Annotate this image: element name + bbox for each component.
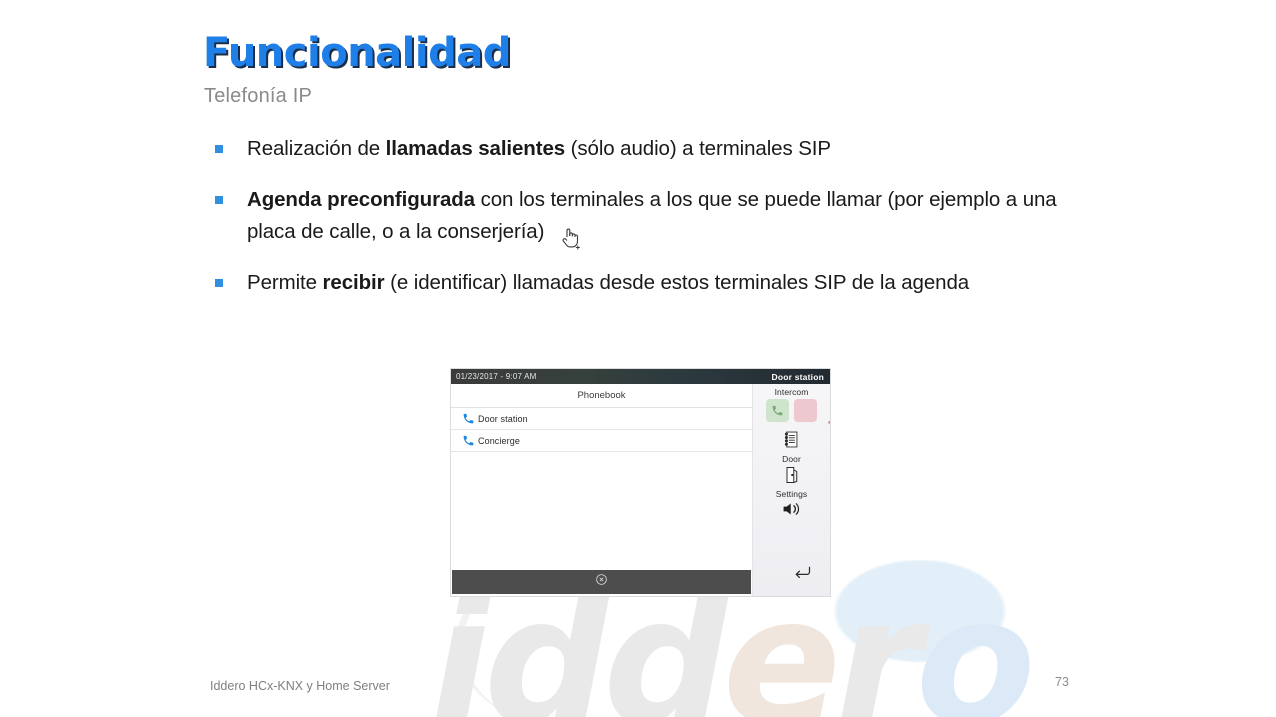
- page-number: 73: [1055, 675, 1069, 689]
- device-clock: 01/23/2017 - 9:07 AM: [456, 372, 537, 381]
- door-label: Door: [782, 454, 801, 464]
- phonebook-header: Phonebook: [451, 384, 752, 408]
- device-main-panel: Phonebook Door station Concierge: [451, 384, 752, 596]
- bullet-text-pre: Permite: [247, 271, 323, 294]
- device-bottom-bar: [452, 570, 751, 594]
- close-circle-icon[interactable]: [595, 573, 608, 591]
- slide-canvas: iddero Funcionalidad Telefonía IP Realiz…: [0, 0, 1276, 717]
- bullet-text-post: (e identificar) llamadas desde estos ter…: [385, 271, 970, 294]
- phone-icon: [458, 412, 478, 425]
- notebook-icon[interactable]: [783, 430, 800, 449]
- bullet-text-pre: Realización de: [247, 137, 386, 160]
- door-icon[interactable]: [784, 466, 799, 484]
- bullet-list: Realización de llamadas salientes (sólo …: [210, 133, 1070, 318]
- page-subtitle: Telefonía IP: [204, 85, 312, 108]
- list-item: Permite recibir (e identificar) llamadas…: [210, 267, 1070, 299]
- list-item[interactable]: Concierge: [451, 430, 752, 452]
- bullet-text-bold: llamadas salientes: [386, 137, 565, 160]
- footer-text: Iddero HCx-KNX y Home Server: [210, 679, 390, 693]
- phonebook-entry-label: Door station: [478, 414, 528, 424]
- page-title: Funcionalidad: [203, 33, 511, 73]
- list-item[interactable]: Door station: [451, 408, 752, 430]
- phone-reject-icon[interactable]: [794, 399, 817, 422]
- return-arrow-icon[interactable]: [793, 565, 812, 584]
- device-sidebar: Intercom Door: [752, 384, 830, 596]
- device-status-bar: 01/23/2017 - 9:07 AM Door station: [451, 369, 830, 384]
- bullet-text-bold: recibir: [323, 271, 385, 294]
- device-screenshot: 01/23/2017 - 9:07 AM Door station Phoneb…: [451, 369, 830, 596]
- list-item: Agenda preconfigurada con los terminales…: [210, 184, 1070, 248]
- speaker-icon[interactable]: [782, 501, 801, 517]
- intercom-label: Intercom: [775, 387, 809, 397]
- phone-icon: [458, 434, 478, 447]
- bullet-square-icon: [215, 279, 223, 287]
- bullet-text-bold: Agenda preconfigurada: [247, 188, 475, 211]
- bullet-square-icon: [215, 145, 223, 153]
- watermark-logo-text: iddero: [430, 575, 1030, 717]
- list-item: Realización de llamadas salientes (sólo …: [210, 133, 1070, 165]
- bullet-square-icon: [215, 196, 223, 204]
- settings-label: Settings: [776, 489, 808, 499]
- intercom-buttons: [766, 399, 817, 422]
- bullet-text-post: (sólo audio) a terminales SIP: [565, 137, 831, 160]
- device-screen-title: Door station: [772, 372, 824, 382]
- phonebook-entry-label: Concierge: [478, 436, 520, 446]
- phone-accept-icon[interactable]: [766, 399, 789, 422]
